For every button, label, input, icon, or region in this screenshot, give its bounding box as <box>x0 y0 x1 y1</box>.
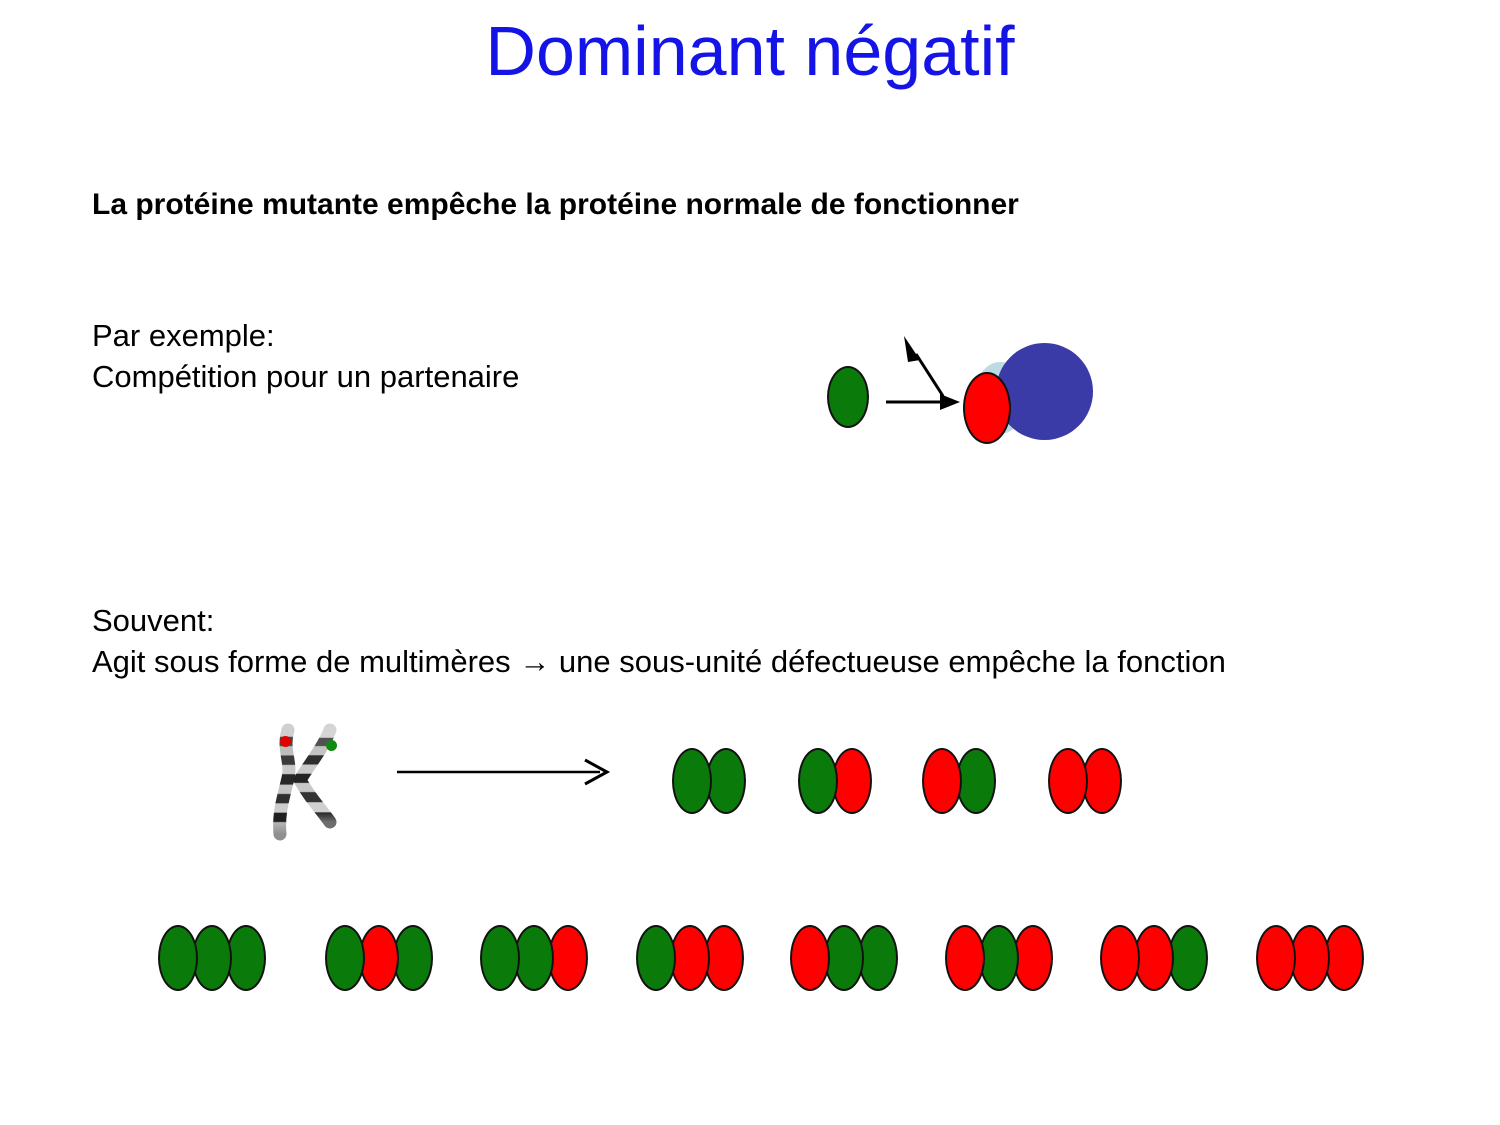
subunit-normal <box>325 925 365 991</box>
subunit-mutant <box>1082 748 1122 814</box>
slide-canvas: Dominant négatif La protéine mutante emp… <box>0 0 1500 1125</box>
trimer-row <box>0 925 1500 995</box>
subunit-mutant <box>1290 925 1330 991</box>
subunit-normal <box>956 748 996 814</box>
subunit-mutant <box>1134 925 1174 991</box>
subunit-mutant <box>359 925 399 991</box>
souvent-text-block: Souvent: Agit sous forme de multimères →… <box>92 600 1226 682</box>
trimer-RGG <box>790 925 898 991</box>
dimer-RR <box>1048 748 1122 814</box>
page-title: Dominant négatif <box>0 16 1500 86</box>
subunit-mutant <box>548 925 588 991</box>
subunit-normal <box>192 925 232 991</box>
subunit-mutant <box>922 748 962 814</box>
trimer-RRR <box>1256 925 1364 991</box>
subunit-mutant <box>1100 925 1140 991</box>
subunit-mutant <box>945 925 985 991</box>
trimer-GGG <box>158 925 266 991</box>
subunit-mutant <box>1013 925 1053 991</box>
subunit-mutant <box>832 748 872 814</box>
binding-arrow-horizontal <box>886 394 960 410</box>
souvent-line-1: Souvent: <box>92 600 1226 641</box>
subunit-normal <box>480 925 520 991</box>
dimer-GG <box>672 748 746 814</box>
subunit-normal <box>979 925 1019 991</box>
subunit-mutant <box>670 925 710 991</box>
subunit-normal <box>226 925 266 991</box>
dimer-row <box>0 748 1500 818</box>
trimer-GRG <box>325 925 433 991</box>
example-line-2: Compétition pour un partenaire <box>92 356 519 397</box>
subunit-mutant <box>1324 925 1364 991</box>
subunit-normal <box>672 748 712 814</box>
example-text-block: Par exemple: Compétition pour un partena… <box>92 315 519 397</box>
souvent-line-2: Agit sous forme de multimères → une sous… <box>92 641 1226 682</box>
trimer-GGR <box>480 925 588 991</box>
subunit-normal <box>706 748 746 814</box>
partner-blue-circle <box>996 343 1093 440</box>
trimer-RRG <box>1100 925 1208 991</box>
subunit-normal <box>858 925 898 991</box>
mutant-protein-red-oval <box>963 372 1011 444</box>
dimer-GR <box>798 748 872 814</box>
mutant-allele-marker <box>280 736 291 747</box>
subunit-normal <box>636 925 676 991</box>
subunit-normal <box>824 925 864 991</box>
subunit-mutant <box>704 925 744 991</box>
trimer-GRR <box>636 925 744 991</box>
subunit-normal <box>1168 925 1208 991</box>
subunit-mutant <box>790 925 830 991</box>
blocked-arrow-diagonal <box>904 336 943 396</box>
subunit-mutant <box>1048 748 1088 814</box>
trimer-RGR <box>945 925 1053 991</box>
dimer-RG <box>922 748 996 814</box>
subunit-normal <box>158 925 198 991</box>
subunit-normal <box>393 925 433 991</box>
example-line-1: Par exemple: <box>92 315 519 356</box>
subunit-normal <box>798 748 838 814</box>
competition-diagram <box>800 330 1120 460</box>
subunit-normal <box>514 925 554 991</box>
subunit-mutant <box>1256 925 1296 991</box>
subtitle-text: La protéine mutante empêche la protéine … <box>92 188 1019 222</box>
